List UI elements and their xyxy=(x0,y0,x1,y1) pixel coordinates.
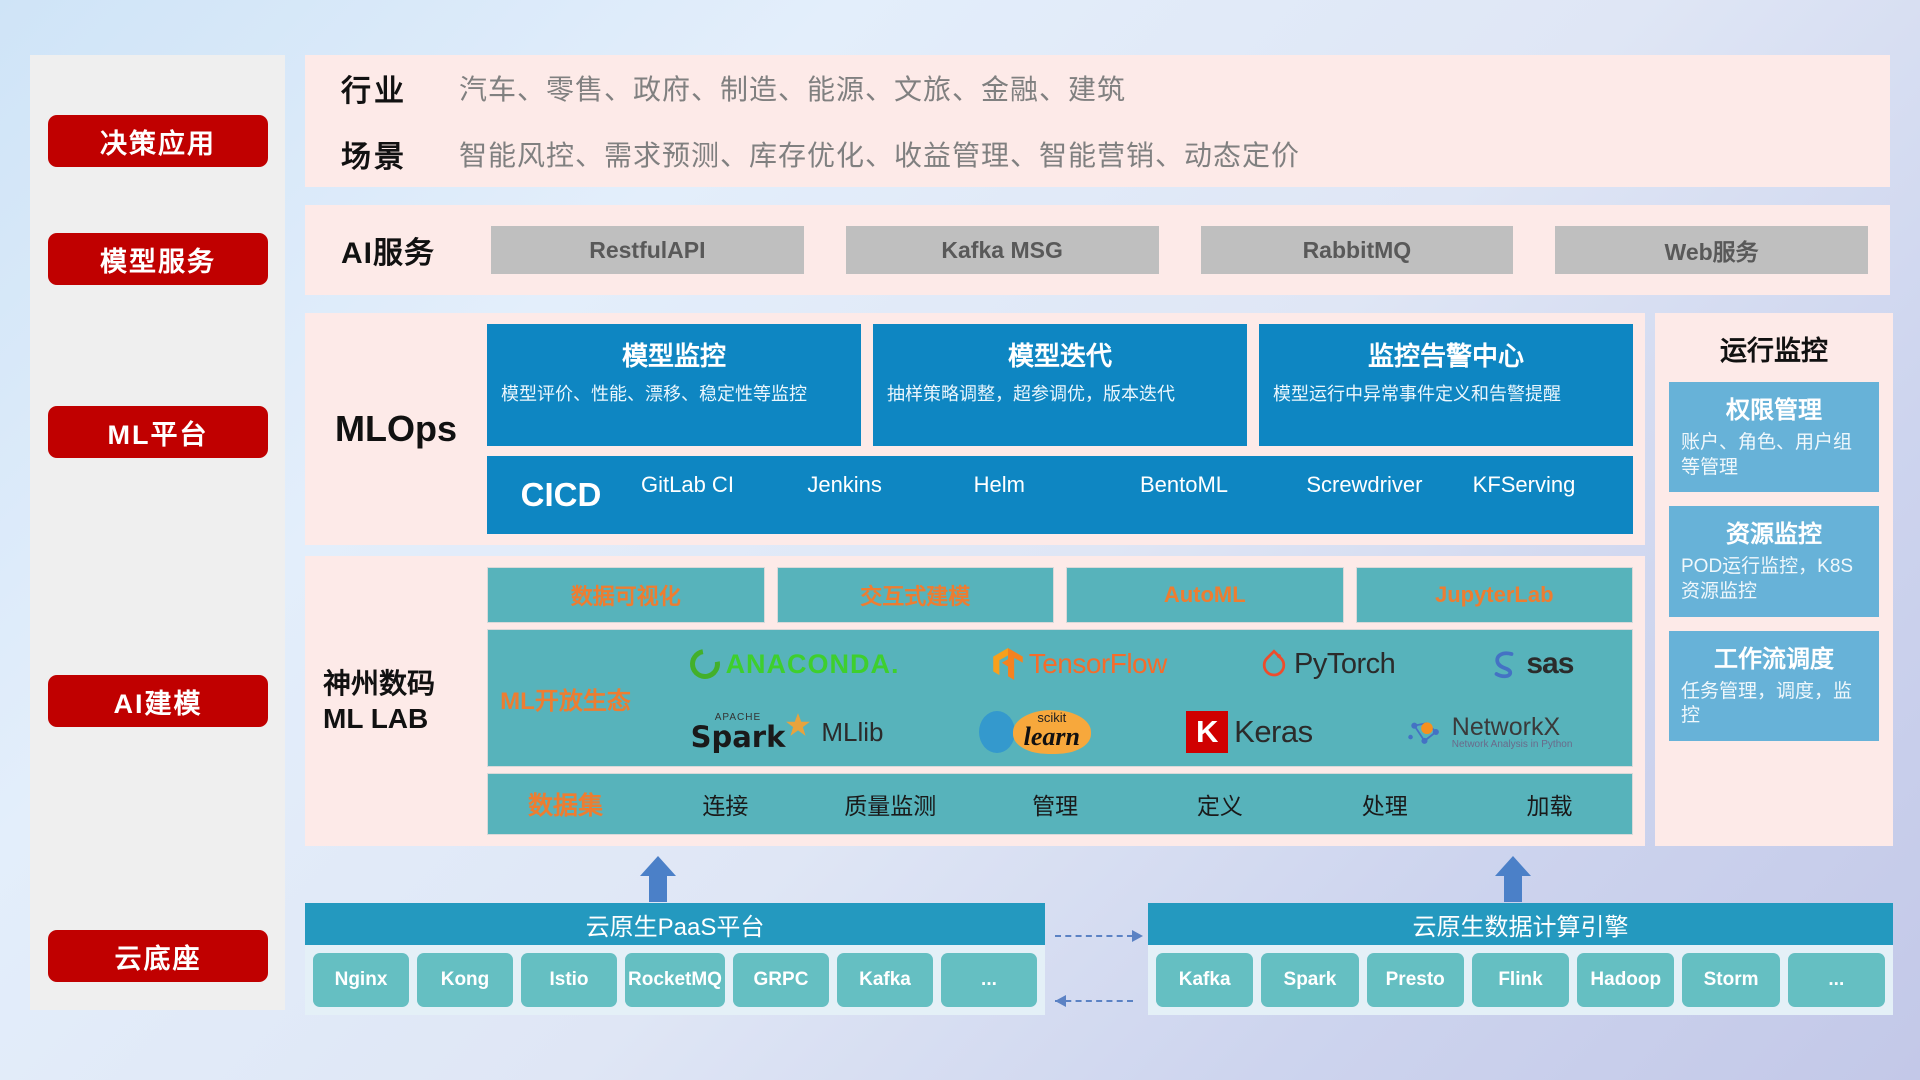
compute-chip-flink[interactable]: Flink xyxy=(1472,953,1569,1007)
monitor-card-title: 权限管理 xyxy=(1681,390,1867,425)
logo-spark-mllib[interactable]: APACHE Spark MLlib xyxy=(691,713,884,752)
dataset-item-definition[interactable]: 定义 xyxy=(1137,787,1302,821)
cicd-item-helm[interactable]: Helm xyxy=(968,456,1134,496)
monitor-card-title: 工作流调度 xyxy=(1681,639,1867,674)
cloud-chip-more[interactable]: ... xyxy=(941,953,1037,1007)
sas-label: sas xyxy=(1526,647,1573,681)
cloud-chip-nginx[interactable]: Nginx xyxy=(313,953,409,1007)
industry-row: 行业 汽车、零售、政府、制造、能源、文旅、金融、建筑 xyxy=(305,55,1890,121)
layer-chip-label: ML平台 xyxy=(108,413,209,452)
logo-scikit-learn[interactable]: scikit learn xyxy=(979,710,1091,754)
decision-application-band: 行业 汽车、零售、政府、制造、能源、文旅、金融、建筑 场景 智能风控、需求预测、… xyxy=(305,55,1890,187)
networkx-icon xyxy=(1408,715,1446,749)
dataset-item-processing[interactable]: 处理 xyxy=(1302,787,1467,821)
mlops-card-model-monitoring[interactable]: 模型监控 模型评价、性能、漂移、稳定性等监控 xyxy=(487,324,861,446)
ai-service-chip-rabbitmq[interactable]: RabbitMQ xyxy=(1201,226,1514,274)
compute-chip-kafka[interactable]: Kafka xyxy=(1156,953,1253,1007)
arrow-tip xyxy=(1055,995,1066,1007)
ai-service-chip-web[interactable]: Web服务 xyxy=(1555,226,1868,274)
arrow-stem xyxy=(649,872,667,902)
up-arrow-paas-icon xyxy=(640,856,676,902)
scenario-label: 场景 xyxy=(341,132,459,176)
cicd-bar: CICD GitLab CI Jenkins Helm BentoML Scre… xyxy=(487,456,1633,534)
monitor-card-workflow-scheduling[interactable]: 工作流调度 任务管理，调度，监控 xyxy=(1669,631,1879,741)
layer-chip-cloud-base[interactable]: 云底座 xyxy=(48,930,268,982)
mlops-content: 模型监控 模型评价、性能、漂移、稳定性等监控 模型迭代 抽样策略调整，超参调优，… xyxy=(487,324,1645,534)
dashed-arrow-right-icon xyxy=(1055,935,1143,937)
scikit-blob-icon xyxy=(979,711,1015,753)
layer-chip-label: 模型服务 xyxy=(100,240,216,279)
mlops-card-model-iteration[interactable]: 模型迭代 抽样策略调整，超参调优，版本迭代 xyxy=(873,324,1247,446)
cloud-chip-kafka[interactable]: Kafka xyxy=(837,953,933,1007)
scenario-row: 场景 智能风控、需求预测、库存优化、收益管理、智能营销、动态定价 xyxy=(305,121,1890,187)
tensorflow-label: TensorFlow xyxy=(1029,648,1167,680)
mlops-card-alert-center[interactable]: 监控告警中心 模型运行中异常事件定义和告警提醒 xyxy=(1259,324,1633,446)
mlops-label: MLOps xyxy=(305,408,487,450)
dataset-item-connect[interactable]: 连接 xyxy=(643,787,808,821)
mllib-label: MLlib xyxy=(821,717,883,748)
ml-lab-label: 神州数码 ML LAB xyxy=(305,666,487,736)
logo-keras[interactable]: K Keras xyxy=(1186,711,1312,753)
logo-networkx[interactable]: NetworkX Network Analysis in Python xyxy=(1408,715,1573,750)
pytorch-icon xyxy=(1260,649,1288,679)
arrow-stem xyxy=(1504,872,1522,902)
modeling-tool-list: 数据可视化 交互式建模 AutoML JupyterLab xyxy=(487,567,1633,623)
compute-chip-spark[interactable]: Spark xyxy=(1261,953,1358,1007)
scikit-learn-wordmark: scikit learn xyxy=(1013,710,1091,754)
monitor-card-desc: POD运行监控，K8S资源监控 xyxy=(1681,555,1867,604)
keras-icon: K xyxy=(1186,711,1228,753)
dataset-item-quality-monitoring[interactable]: 质量监测 xyxy=(808,787,973,821)
ai-service-band: AI服务 RestfulAPI Kafka MSG RabbitMQ Web服务 xyxy=(305,205,1890,295)
scenario-values: 智能风控、需求预测、库存优化、收益管理、智能营销、动态定价 xyxy=(459,134,1300,174)
ecosystem-logo-row-2: APACHE Spark MLlib scikit xyxy=(643,699,1620,765)
cloud-paas-group: 云原生PaaS平台 Nginx Kong Istio RocketMQ GRPC… xyxy=(305,903,1045,1015)
anaconda-icon xyxy=(684,643,726,685)
ai-modeling-band: 神州数码 ML LAB 数据可视化 交互式建模 AutoML JupyterLa… xyxy=(305,556,1645,846)
networkx-label: NetworkX xyxy=(1452,715,1573,740)
logo-anaconda[interactable]: ANACONDA. xyxy=(690,649,900,680)
keras-label: Keras xyxy=(1234,714,1312,750)
arrow-line xyxy=(1055,935,1133,937)
monitor-card-desc: 任务管理，调度，监控 xyxy=(1681,680,1867,729)
networkx-sublabel: Network Analysis in Python xyxy=(1452,740,1573,750)
cicd-item-jenkins[interactable]: Jenkins xyxy=(801,456,967,496)
up-arrow-compute-engine-icon xyxy=(1495,856,1531,902)
compute-chip-storm[interactable]: Storm xyxy=(1682,953,1779,1007)
monitor-card-title: 资源监控 xyxy=(1681,514,1867,549)
tool-chip-data-visualization[interactable]: 数据可视化 xyxy=(487,567,765,623)
ai-service-chip-restfulapi[interactable]: RestfulAPI xyxy=(491,226,804,274)
cloud-compute-engine-title: 云原生数据计算引擎 xyxy=(1148,903,1893,945)
layer-chip-decision[interactable]: 决策应用 xyxy=(48,115,268,167)
logo-sas[interactable]: sas xyxy=(1488,647,1573,681)
cloud-chip-rocketmq[interactable]: RocketMQ xyxy=(625,953,725,1007)
ml-open-ecosystem-label: ML开放生态 xyxy=(488,681,643,716)
tool-chip-interactive-modeling[interactable]: 交互式建模 xyxy=(777,567,1055,623)
compute-chip-more[interactable]: ... xyxy=(1788,953,1885,1007)
diagram-canvas: 决策应用 模型服务 ML平台 AI建模 云底座 行业 汽车、零售、政府、制造、能… xyxy=(0,0,1920,1080)
cloud-paas-chip-list: Nginx Kong Istio RocketMQ GRPC Kafka ... xyxy=(305,945,1045,1015)
layer-chip-ai-modeling[interactable]: AI建模 xyxy=(48,675,268,727)
mlops-card-desc: 抽样策略调整，超参调优，版本迭代 xyxy=(887,382,1233,406)
ml-open-ecosystem-box: ML开放生态 ANACONDA. xyxy=(487,629,1633,767)
monitor-card-resource-monitoring[interactable]: 资源监控 POD运行监控，K8S资源监控 xyxy=(1669,506,1879,616)
layer-chip-ml-platform[interactable]: ML平台 xyxy=(48,406,268,458)
runtime-monitoring-title: 运行监控 xyxy=(1669,329,1879,368)
scikit-bottom-label: learn xyxy=(1024,724,1080,750)
arrow-line xyxy=(1055,1000,1133,1002)
cloud-chip-grpc[interactable]: GRPC xyxy=(733,953,829,1007)
mlops-card-desc: 模型评价、性能、漂移、稳定性等监控 xyxy=(501,382,847,406)
logo-pytorch[interactable]: PyTorch xyxy=(1260,648,1395,681)
monitor-card-permission-management[interactable]: 权限管理 账户、角色、用户组等管理 xyxy=(1669,382,1879,492)
ecosystem-logo-row-1: ANACONDA. TensorFlow xyxy=(643,631,1620,697)
compute-chip-hadoop[interactable]: Hadoop xyxy=(1577,953,1674,1007)
cloud-compute-engine-group: 云原生数据计算引擎 Kafka Spark Presto Flink Hadoo… xyxy=(1148,903,1893,1015)
spark-star-icon xyxy=(785,712,811,738)
mlops-card-list: 模型监控 模型评价、性能、漂移、稳定性等监控 模型迭代 抽样策略调整，超参调优，… xyxy=(487,324,1633,446)
industry-values: 汽车、零售、政府、制造、能源、文旅、金融、建筑 xyxy=(459,68,1126,108)
tool-chip-automl[interactable]: AutoML xyxy=(1066,567,1344,623)
dataset-title: 数据集 xyxy=(488,786,643,822)
runtime-monitoring-panel: 运行监控 权限管理 账户、角色、用户组等管理 资源监控 POD运行监控，K8S资… xyxy=(1655,313,1893,846)
layer-chip-model-service[interactable]: 模型服务 xyxy=(48,233,268,285)
cicd-item-screwdriver[interactable]: Screwdriver xyxy=(1300,456,1466,496)
networkx-wordmark: NetworkX Network Analysis in Python xyxy=(1452,715,1573,750)
cicd-item-bentoml[interactable]: BentoML xyxy=(1134,456,1300,496)
industry-label: 行业 xyxy=(341,66,459,110)
sas-icon xyxy=(1488,649,1520,679)
mlops-card-title: 模型迭代 xyxy=(887,336,1233,373)
dataset-bar: 数据集 连接 质量监测 管理 定义 处理 加载 xyxy=(487,773,1633,835)
cloud-chip-kong[interactable]: Kong xyxy=(417,953,513,1007)
tensorflow-icon xyxy=(993,648,1023,680)
anaconda-label: ANACONDA. xyxy=(726,649,900,680)
layer-chip-label: 决策应用 xyxy=(100,122,216,161)
ecosystem-logo-grid: ANACONDA. TensorFlow xyxy=(643,631,1632,765)
layer-chip-label: AI建模 xyxy=(114,682,203,721)
dashed-arrow-left-icon xyxy=(1055,1000,1143,1002)
cicd-item-gitlab-ci[interactable]: GitLab CI xyxy=(635,456,801,496)
ml-lab-label-line2: ML LAB xyxy=(323,701,428,736)
modeling-content: 数据可视化 交互式建模 AutoML JupyterLab ML开放生态 ANA… xyxy=(487,567,1645,835)
cloud-chip-istio[interactable]: Istio xyxy=(521,953,617,1007)
mlops-card-title: 监控告警中心 xyxy=(1273,336,1619,373)
ai-service-chip-kafka-msg[interactable]: Kafka MSG xyxy=(846,226,1159,274)
ai-service-chip-list: RestfulAPI Kafka MSG RabbitMQ Web服务 xyxy=(491,226,1890,274)
tool-chip-jupyterlab[interactable]: JupyterLab xyxy=(1356,567,1634,623)
dataset-item-loading[interactable]: 加载 xyxy=(1467,787,1632,821)
ai-service-label: AI服务 xyxy=(341,228,491,272)
cloud-compute-engine-chip-list: Kafka Spark Presto Flink Hadoop Storm ..… xyxy=(1148,945,1893,1015)
mlops-card-desc: 模型运行中异常事件定义和告警提醒 xyxy=(1273,382,1619,406)
dataset-item-management[interactable]: 管理 xyxy=(973,787,1138,821)
pytorch-label: PyTorch xyxy=(1294,648,1395,681)
cicd-title: CICD xyxy=(487,476,635,514)
layer-rail xyxy=(30,55,285,1010)
cicd-item-kfserving[interactable]: KFServing xyxy=(1467,456,1633,496)
layer-chip-label: 云底座 xyxy=(115,937,202,976)
spark-label: Spark xyxy=(691,723,786,752)
ml-lab-label-line1: 神州数码 xyxy=(323,666,435,701)
mlops-band: MLOps 模型监控 模型评价、性能、漂移、稳定性等监控 模型迭代 抽样策略调整… xyxy=(305,313,1645,545)
compute-chip-presto[interactable]: Presto xyxy=(1367,953,1464,1007)
arrow-tip xyxy=(1132,930,1143,942)
mlops-card-title: 模型监控 xyxy=(501,336,847,373)
monitor-card-desc: 账户、角色、用户组等管理 xyxy=(1681,431,1867,480)
cloud-paas-title: 云原生PaaS平台 xyxy=(305,903,1045,945)
logo-tensorflow[interactable]: TensorFlow xyxy=(993,648,1167,680)
